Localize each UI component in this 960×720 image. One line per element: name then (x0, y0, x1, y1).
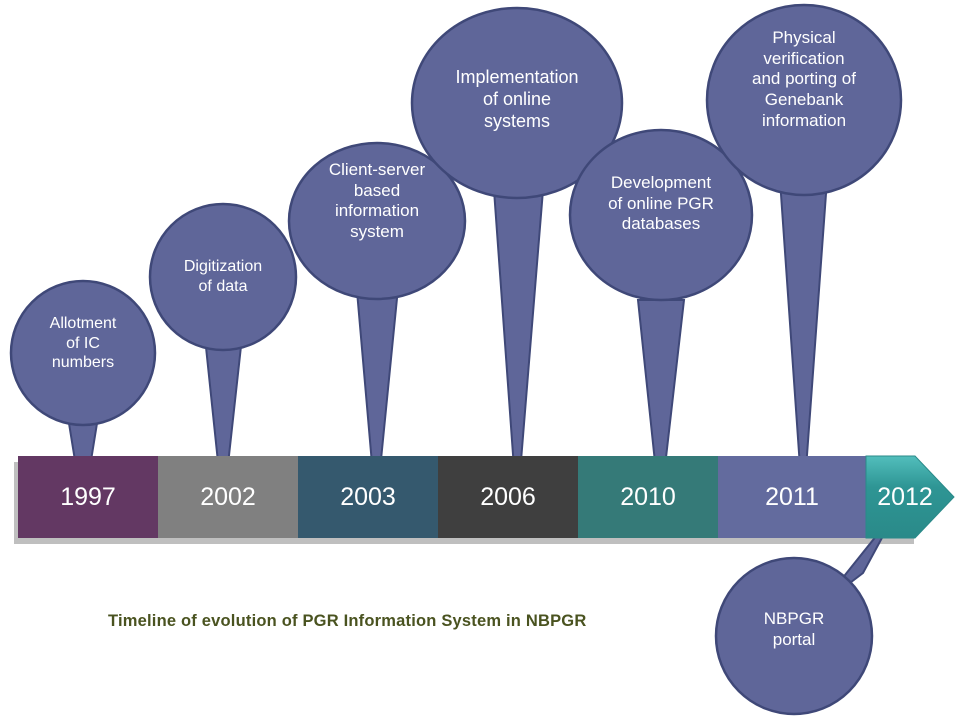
timeline-segment-2002[interactable] (158, 456, 298, 538)
timeline-segment-2010[interactable] (578, 456, 718, 538)
diagram-caption: Timeline of evolution of PGR Information… (108, 612, 586, 631)
balloon-body-2002[interactable] (150, 204, 296, 350)
timeline-bar (18, 456, 954, 538)
timeline-segment-2012[interactable] (866, 456, 954, 538)
balloon-body-2011[interactable] (707, 5, 901, 195)
timeline-segment-2003[interactable] (298, 456, 438, 538)
timeline-diagram: 1997 2002 2003 2006 2010 2011 2012 Allot… (0, 0, 960, 720)
timeline-segment-2006[interactable] (438, 456, 578, 538)
timeline-segment-1997[interactable] (18, 456, 158, 538)
balloon-bodies (11, 5, 901, 714)
balloon-body-1997[interactable] (11, 281, 155, 425)
balloon-body-2012[interactable] (716, 558, 872, 714)
timeline-segment-2011[interactable] (718, 456, 866, 538)
